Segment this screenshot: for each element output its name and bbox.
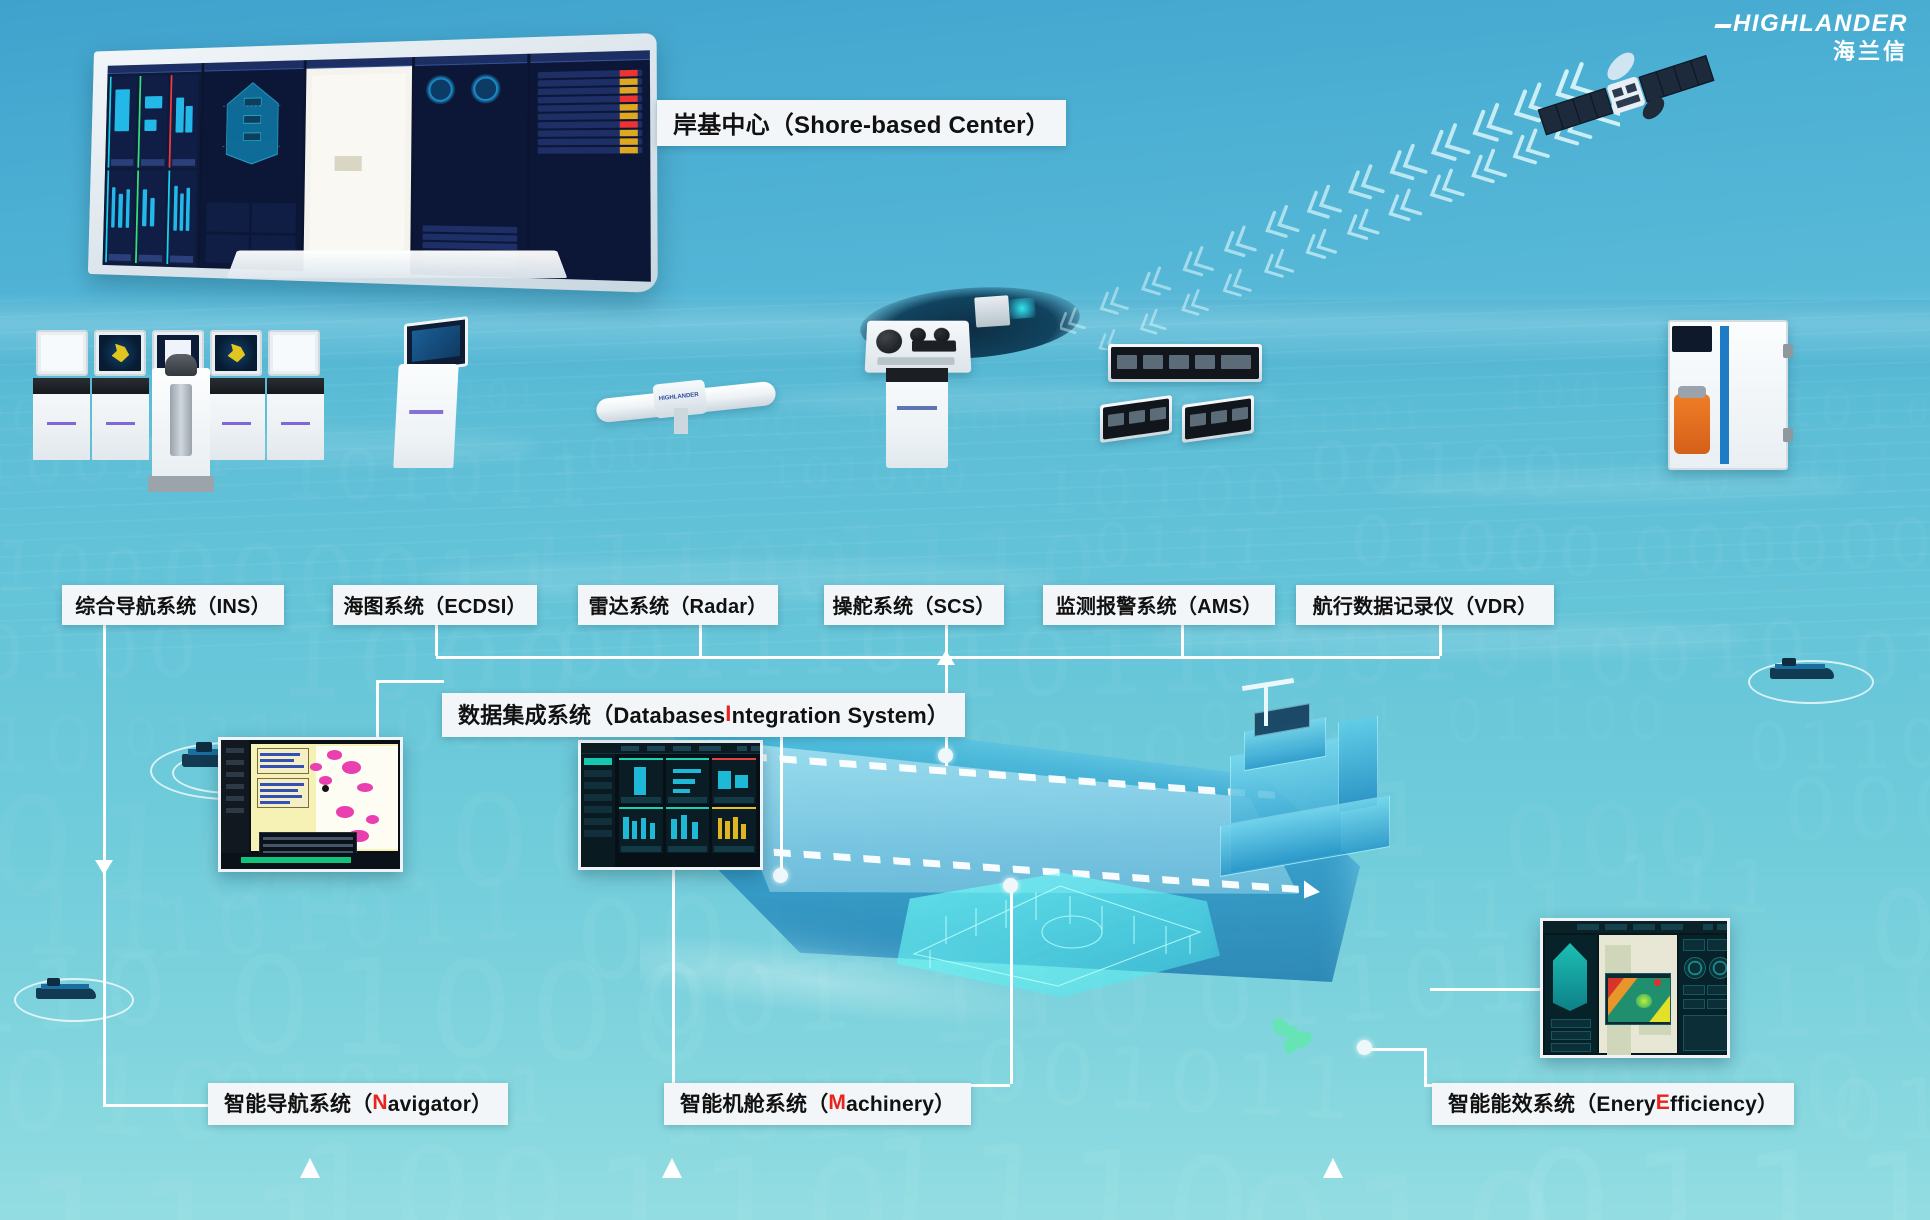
energy-efficiency-screen[interactable] <box>1540 918 1730 1058</box>
small-vessel <box>36 976 98 1002</box>
navigator-feed-line <box>103 1104 213 1107</box>
chevron-icon <box>1344 210 1378 244</box>
label-vdr-text: 航行数据记录仪（VDR） <box>1313 590 1538 619</box>
equipment-drop-line <box>1181 625 1184 656</box>
infographic-canvas: 0110000001111100111001110100000000000011… <box>0 0 1930 1220</box>
wall-pane-overview <box>102 63 201 268</box>
label-machinery[interactable]: 智能机舱系统（Machinery） <box>664 1083 971 1125</box>
label-navigator-prefix: 智能导航系统（ <box>224 1088 372 1118</box>
integration-to-ship-line <box>780 737 783 875</box>
wall-pane-chart <box>303 57 412 274</box>
label-efficiency[interactable]: 智能能效系统（Enery Efficiency） <box>1432 1083 1794 1125</box>
machinery-riser <box>672 870 675 1084</box>
chevron-icon <box>1427 125 1468 166</box>
label-scs-text: 操舵系统（SCS） <box>833 590 996 619</box>
chevron-icon <box>1178 290 1207 319</box>
efficiency-feed-line <box>1364 1048 1426 1051</box>
label-ins-text: 综合导航系统（INS） <box>75 590 271 619</box>
steering-console-icon <box>866 318 970 468</box>
label-scs[interactable]: 操舵系统（SCS） <box>824 585 1004 625</box>
chevron-icon <box>1220 270 1251 300</box>
label-efficiency-highlight: E <box>1656 1091 1670 1115</box>
chevron-icon <box>1426 170 1463 206</box>
ship-superstructure <box>1220 700 1410 890</box>
wave-highlight <box>1380 470 1860 500</box>
ship-propeller <box>1260 1000 1324 1064</box>
label-integration-suffix: ntegration System） <box>732 698 950 730</box>
chevron-icon <box>1468 105 1510 147</box>
bus-arrow-up <box>937 650 955 665</box>
chevron-icon <box>1262 207 1298 243</box>
logo-tick-icon <box>1714 24 1731 28</box>
video-wall-stand <box>227 251 568 279</box>
efficiency-screen-line <box>1430 988 1542 991</box>
label-radar-text: 雷达系统（Radar） <box>589 590 768 619</box>
ins-spine-line-lower <box>103 905 106 1104</box>
propeller-node <box>1357 1040 1372 1055</box>
equipment-drop-line <box>699 625 702 656</box>
engine-node <box>1003 878 1018 893</box>
chevron-icon <box>1467 151 1505 188</box>
chevron-icon <box>1302 230 1335 263</box>
chevron-icon <box>1386 146 1426 185</box>
radar-scanner-icon: HIGHLANDER <box>596 360 776 450</box>
chevron-icon <box>1097 288 1128 318</box>
bridge-console-icon <box>30 330 330 470</box>
label-navigator[interactable]: 智能导航系统（Navigator） <box>208 1083 508 1125</box>
label-ecdis-text: 海图系统（ECDSI） <box>343 590 526 619</box>
ins-spine-line <box>103 656 106 928</box>
brand-logo: HIGHLANDER 海兰信 <box>1715 12 1908 66</box>
label-integration-system[interactable]: 数据集成系统（Databases Integration System） <box>442 693 965 737</box>
label-machinery-highlight: M <box>828 1091 846 1115</box>
satellite-icon <box>1527 38 1727 158</box>
ecdis-chart-screen[interactable] <box>218 737 403 872</box>
label-ams[interactable]: 监测报警系统（AMS） <box>1043 585 1275 625</box>
machinery-dashboard-screen[interactable] <box>578 740 763 870</box>
label-navigator-highlight: N <box>372 1091 387 1115</box>
label-efficiency-prefix: 智能能效系统（Enery <box>1448 1088 1656 1118</box>
shore-video-wall <box>62 42 642 282</box>
wall-pane-ship-status <box>200 60 304 271</box>
label-ecdis[interactable]: 海图系统（ECDSI） <box>333 585 537 625</box>
ship-deck-node <box>773 868 788 883</box>
chevron-icon <box>1344 166 1383 204</box>
chevron-icon <box>1060 309 1085 338</box>
chevron-icon <box>1137 310 1165 338</box>
brand-name-cn: 海兰信 <box>1715 38 1908 66</box>
engine-wireframe <box>890 870 1220 1000</box>
chevron-icon <box>1179 248 1212 281</box>
equipment-drop-line <box>103 625 106 656</box>
efficiency-riser <box>1424 1048 1427 1084</box>
chevron-icon <box>1385 190 1421 225</box>
ship-bridge-node <box>938 748 953 763</box>
equipment-drop-line <box>1439 625 1442 656</box>
engine-to-machinery-line <box>1010 886 1013 1084</box>
navigator-riser-top <box>376 680 444 683</box>
label-navigator-suffix: avigator） <box>388 1088 493 1118</box>
label-radar[interactable]: 雷达系统（Radar） <box>578 585 778 625</box>
wall-pane-gauges <box>413 54 527 278</box>
chevron-icon <box>1303 187 1340 224</box>
label-machinery-suffix: achinery） <box>846 1088 955 1118</box>
shore-center-label[interactable]: 岸基中心（Shore-based Center） <box>657 100 1066 146</box>
label-vdr[interactable]: 航行数据记录仪（VDR） <box>1296 585 1554 625</box>
label-integration-prefix: 数据集成系统（Databases <box>458 698 725 730</box>
section-marker-triangle <box>1323 1158 1343 1178</box>
equipment-drop-line <box>435 625 438 656</box>
chart-kiosk-icon <box>388 320 478 470</box>
chevron-icon <box>1261 250 1293 281</box>
section-marker-triangle <box>300 1158 320 1178</box>
wall-pane-alarm-table <box>530 50 651 281</box>
navigator-riser <box>376 680 379 738</box>
main-ship <box>660 700 1450 1120</box>
wave-highlight <box>1150 620 1750 656</box>
shore-center-label-text: 岸基中心（Shore-based Center） <box>673 105 1050 140</box>
alarm-module-icon <box>1100 344 1290 454</box>
brand-name-en: HIGHLANDER <box>1733 10 1908 37</box>
small-vessel <box>1770 656 1836 682</box>
chevron-icon <box>1220 227 1255 261</box>
label-ams-text: 监测报警系统（AMS） <box>1056 590 1263 619</box>
label-machinery-prefix: 智能机舱系统（ <box>680 1088 828 1118</box>
ins-spine-arrow <box>95 860 113 875</box>
label-ins[interactable]: 综合导航系统（INS） <box>62 585 284 625</box>
vdr-cabinet-icon <box>1668 320 1788 470</box>
label-efficiency-suffix: fficiency） <box>1670 1088 1778 1118</box>
section-marker-triangle <box>662 1158 682 1178</box>
chevron-icon <box>1138 268 1170 299</box>
